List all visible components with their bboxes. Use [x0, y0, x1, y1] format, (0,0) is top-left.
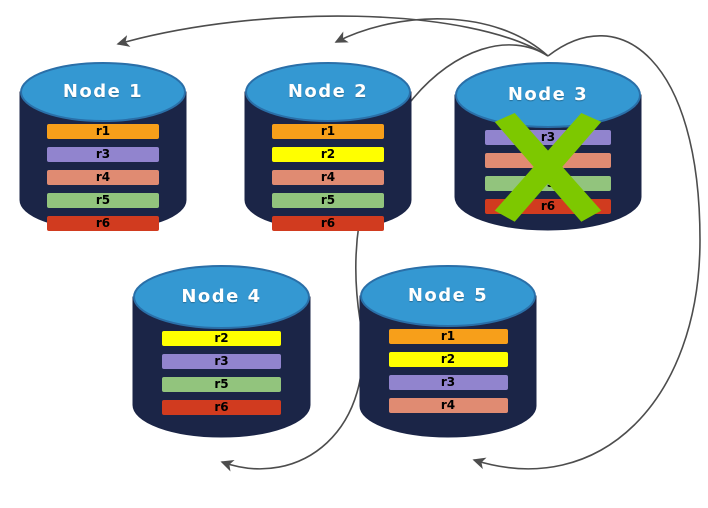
- replica-label: r1: [441, 330, 455, 342]
- node-4-replica-list: r2r3r5r6: [133, 331, 310, 415]
- node-2[interactable]: Node 2r1r2r4r5r6: [245, 62, 411, 230]
- node-2-replica-list: r1r2r4r5r6: [245, 124, 411, 231]
- replica-label: r1: [321, 125, 335, 137]
- node-3-replica-r4[interactable]: r4: [485, 153, 611, 168]
- node-5-replica-list: r1r2r3r4: [360, 329, 536, 413]
- arrow-node3-to-node2: [336, 19, 548, 56]
- node-5-replica-r4[interactable]: r4: [389, 398, 508, 413]
- replica-label: r3: [441, 376, 455, 388]
- node-4[interactable]: Node 4r2r3r5r6: [133, 265, 310, 437]
- node-4-replica-r6[interactable]: r6: [162, 400, 281, 415]
- node-1-replica-r4[interactable]: r4: [47, 170, 159, 185]
- node-5-replica-r3[interactable]: r3: [389, 375, 508, 390]
- node-2-replica-r5[interactable]: r5: [272, 193, 384, 208]
- replica-label: r6: [321, 217, 335, 229]
- node-5-replica-r1[interactable]: r1: [389, 329, 508, 344]
- replica-label: r4: [541, 154, 555, 166]
- node-2-replica-r6[interactable]: r6: [272, 216, 384, 231]
- node-4-replica-r2[interactable]: r2: [162, 331, 281, 346]
- replica-label: r3: [96, 148, 110, 160]
- node-1[interactable]: Node 1r1r3r4r5r6: [20, 62, 186, 230]
- replica-label: r5: [541, 177, 555, 189]
- replica-label: r6: [214, 401, 228, 413]
- node-3-replica-r5[interactable]: r5: [485, 176, 611, 191]
- replica-label: r5: [321, 194, 335, 206]
- node-4-replica-r5[interactable]: r5: [162, 377, 281, 392]
- node-3-replica-list: r3r4r5r6: [455, 130, 641, 214]
- node-2-replica-r4[interactable]: r4: [272, 170, 384, 185]
- replica-label: r3: [214, 355, 228, 367]
- node-3-replica-r6[interactable]: r6: [485, 199, 611, 214]
- node-1-replica-list: r1r3r4r5r6: [20, 124, 186, 231]
- replica-label: r4: [441, 399, 455, 411]
- replica-label: r2: [441, 353, 455, 365]
- replica-label: r6: [96, 217, 110, 229]
- node-4-replica-r3[interactable]: r3: [162, 354, 281, 369]
- replica-label: r2: [321, 148, 335, 160]
- node-2-replica-r2[interactable]: r2: [272, 147, 384, 162]
- node-1-replica-r6[interactable]: r6: [47, 216, 159, 231]
- replica-label: r4: [321, 171, 335, 183]
- replica-label: r5: [96, 194, 110, 206]
- diagram-canvas: Node 1r1r3r4r5r6Node 2r1r2r4r5r6Node 3r3…: [0, 0, 708, 508]
- replica-label: r1: [96, 125, 110, 137]
- node-1-replica-r1[interactable]: r1: [47, 124, 159, 139]
- replica-label: r2: [214, 332, 228, 344]
- replica-label: r6: [541, 200, 555, 212]
- node-5-replica-r2[interactable]: r2: [389, 352, 508, 367]
- replica-label: r5: [214, 378, 228, 390]
- node-1-replica-r5[interactable]: r5: [47, 193, 159, 208]
- node-1-replica-r3[interactable]: r3: [47, 147, 159, 162]
- replica-label: r4: [96, 171, 110, 183]
- node-3[interactable]: Node 3r3r4r5r6: [455, 62, 641, 230]
- arrow-node3-to-node1: [118, 16, 548, 56]
- replica-label: r3: [541, 131, 555, 143]
- node-3-replica-r3[interactable]: r3: [485, 130, 611, 145]
- node-2-replica-r1[interactable]: r1: [272, 124, 384, 139]
- node-5[interactable]: Node 5r1r2r3r4: [360, 265, 536, 437]
